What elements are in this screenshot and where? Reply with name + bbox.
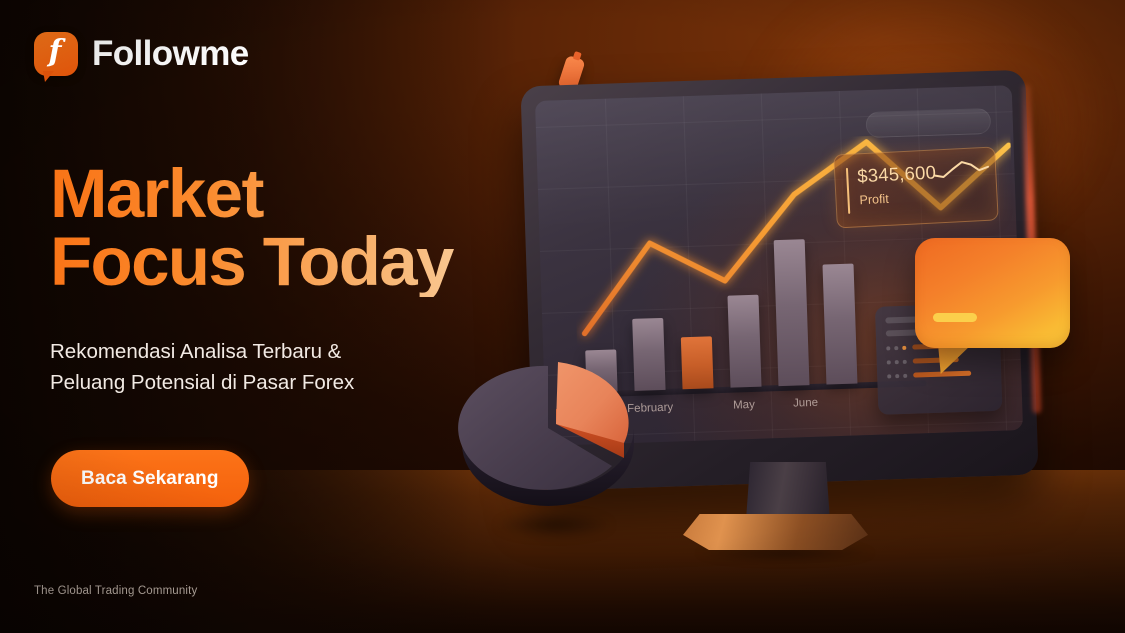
subtitle-line-1: Rekomendasi Analisa Terbaru &	[50, 336, 470, 367]
brand-name: Followme	[92, 34, 249, 74]
profit-card: $345,600 Profit	[833, 146, 999, 228]
bar-march-highlight	[681, 336, 714, 389]
profit-value: $345,600	[857, 161, 937, 187]
followme-speech-bubble-f-icon: f	[34, 32, 78, 76]
profit-label: Profit	[859, 192, 889, 207]
brand-tagline: The Global Trading Community	[34, 585, 197, 597]
dots-icon	[886, 345, 906, 350]
sparkline-icon	[933, 158, 990, 183]
headline-line-2: Focus Today	[50, 228, 650, 296]
axis-label-may: May	[733, 399, 755, 412]
bar-april	[727, 295, 761, 388]
logo-letter: f	[49, 37, 62, 67]
list-row	[887, 356, 991, 364]
bar-may	[774, 239, 810, 386]
pie-chart-svg	[452, 340, 648, 540]
marketing-banner: February May June	[0, 0, 1125, 633]
pie-chart-3d-icon	[452, 340, 648, 540]
axis-label-june: June	[793, 397, 818, 410]
subtitle-line-2: Peluang Potensial di Pasar Forex	[50, 367, 470, 398]
profit-accent-bar	[846, 168, 850, 214]
subtitle: Rekomendasi Analisa Terbaru & Peluang Po…	[50, 336, 470, 398]
speech-bubble-icon	[915, 238, 1070, 348]
headline-line-1: Market	[50, 155, 263, 232]
monitor-stand-base	[683, 514, 868, 550]
brand-logo[interactable]: f Followme	[34, 32, 249, 76]
read-now-button[interactable]: Baca Sekarang	[51, 450, 249, 507]
page-title: Market Focus Today	[50, 160, 650, 297]
bar-june	[822, 264, 857, 385]
speech-bubble-inner-bar	[933, 313, 977, 322]
list-row	[887, 370, 991, 378]
speech-bubble-body	[915, 238, 1070, 348]
dots-icon	[887, 359, 907, 364]
dots-icon	[887, 373, 907, 378]
